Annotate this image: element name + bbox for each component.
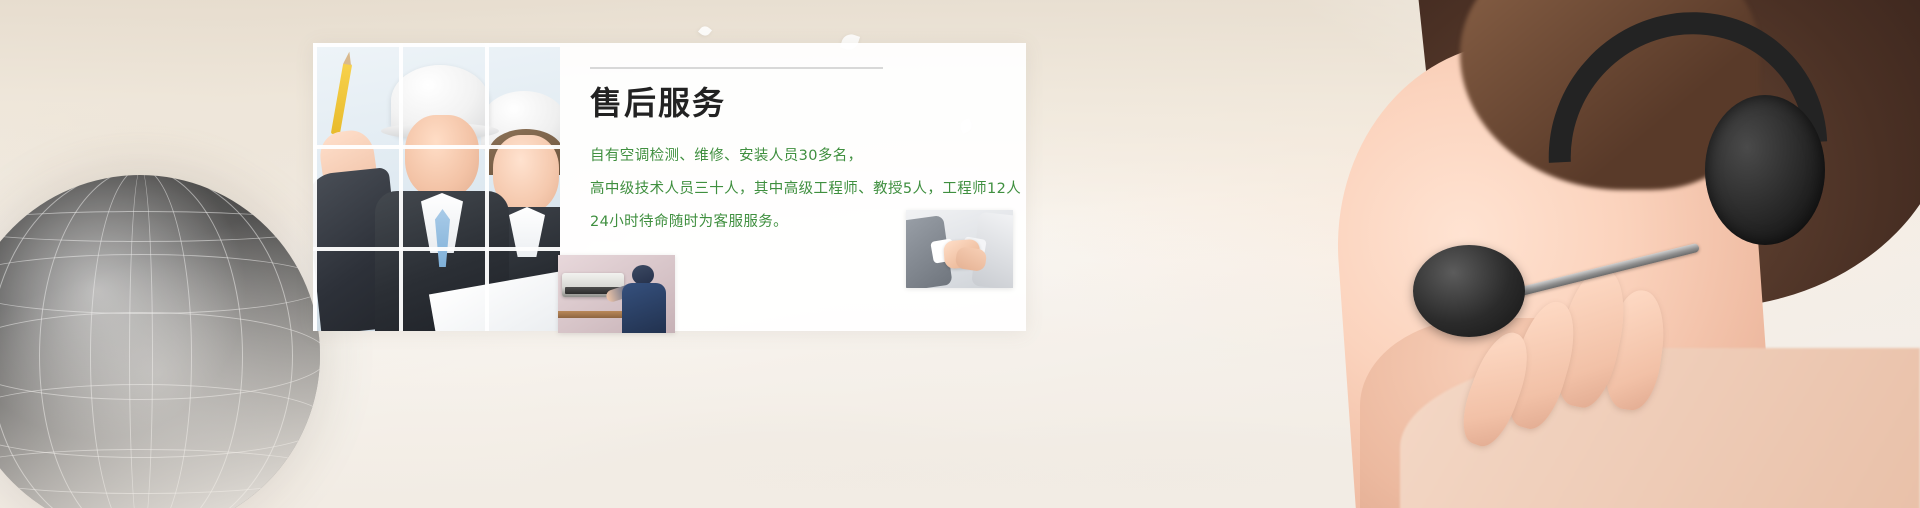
engineer-male-face xyxy=(405,115,479,199)
handshake-hand-right xyxy=(955,246,988,272)
microphone-windscreen-icon xyxy=(1413,245,1525,337)
body-text-line-2: 高中级技术人员三十人，其中高级工程师、教授5人，工程师12人 xyxy=(590,173,1010,206)
page-title: 售后服务 xyxy=(590,83,726,123)
installation-photo-shelf xyxy=(558,311,632,318)
engineers-photo xyxy=(313,43,560,331)
technician-head xyxy=(632,265,654,285)
after-sales-service-banner: 售后服务 自有空调检测、维修、安装人员30多名， 高中级技术人员三十人，其中高级… xyxy=(0,0,1920,508)
handshake-photo xyxy=(906,210,1013,288)
body-text-line-1: 自有空调检测、维修、安装人员30多名， xyxy=(590,140,1010,173)
ac-installation-photo xyxy=(558,255,675,333)
headset-earcup-icon xyxy=(1705,95,1825,245)
title-divider-rule xyxy=(590,67,883,69)
technician-body xyxy=(622,283,666,333)
